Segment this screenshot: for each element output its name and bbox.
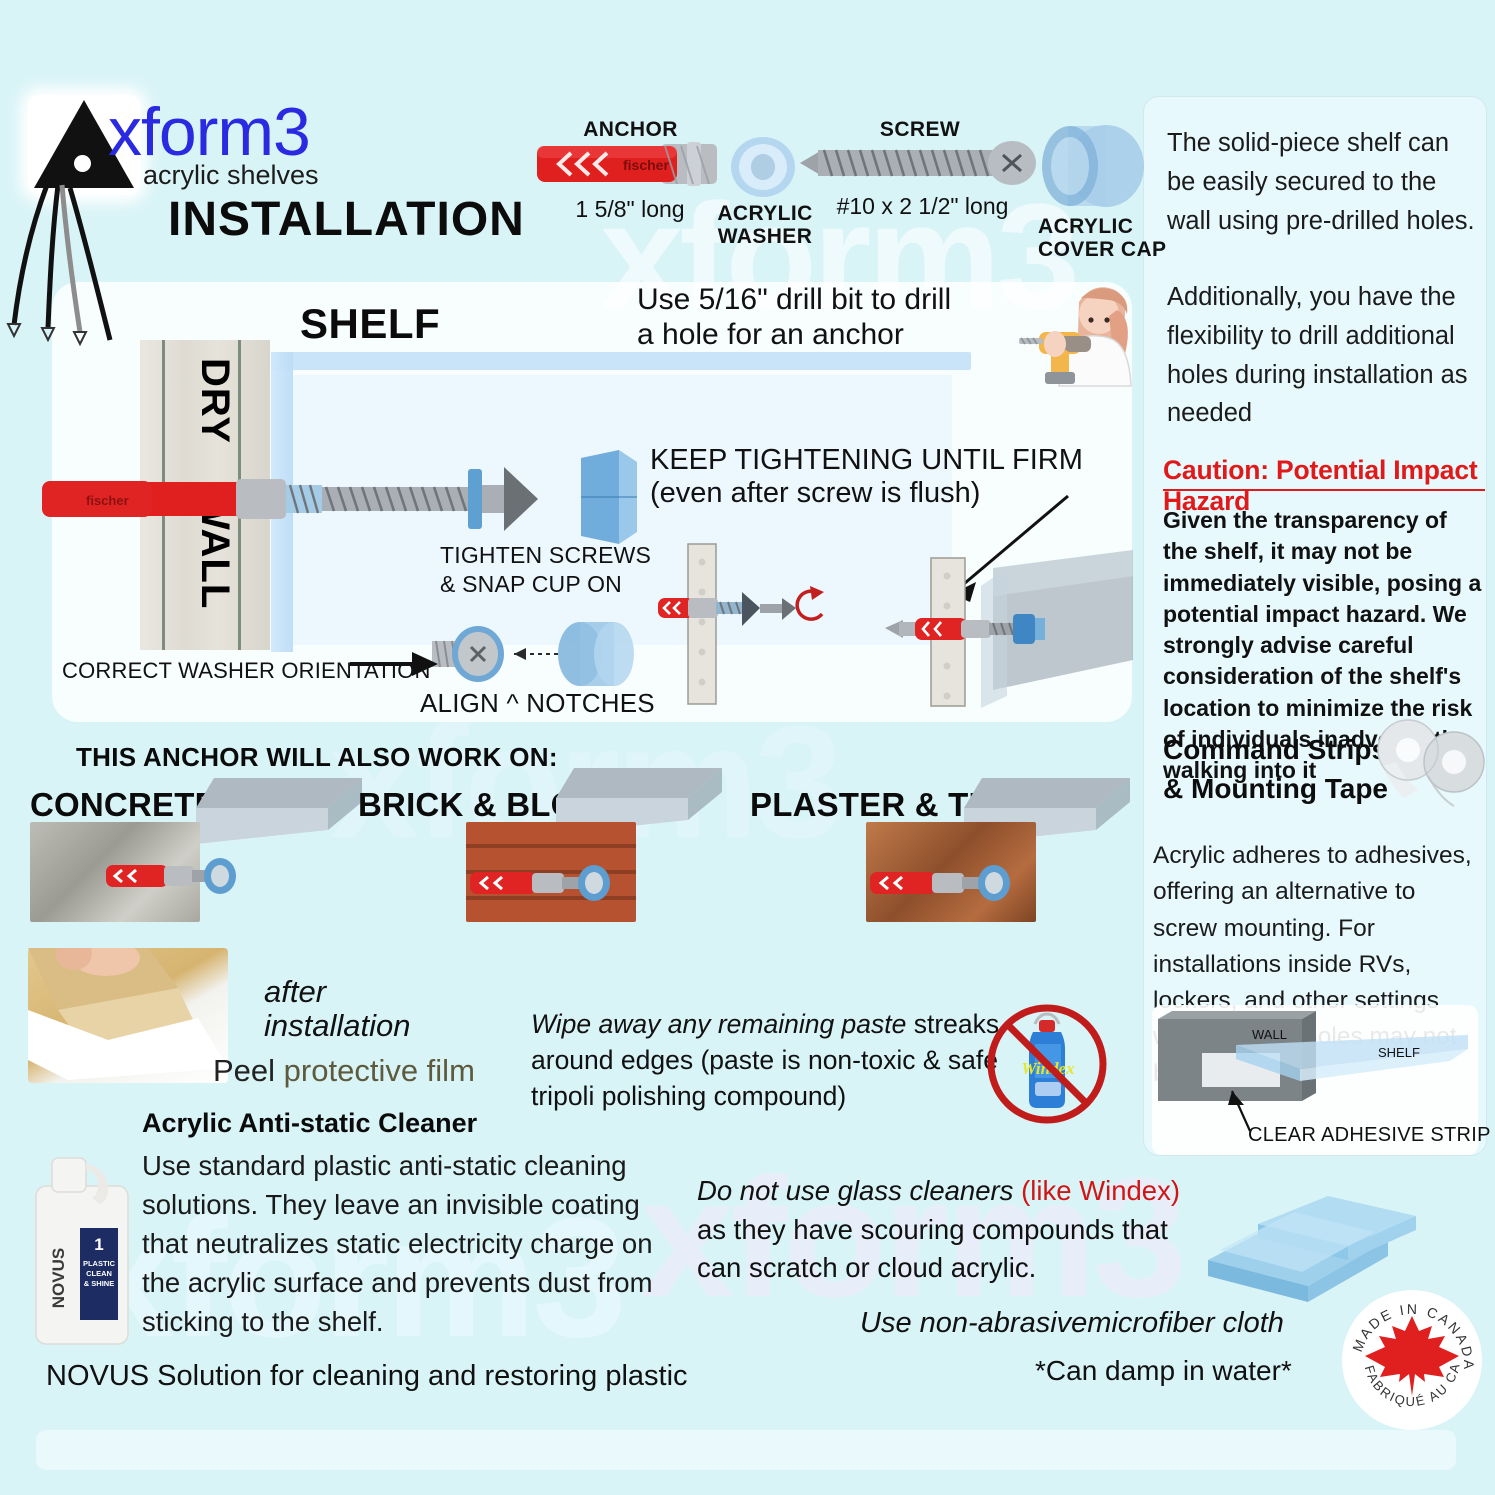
align-notches-label: ALIGN ^ NOTCHES: [420, 688, 655, 719]
svg-text:NOVUS: NOVUS: [49, 1248, 68, 1308]
wall-label-dry: DRY: [192, 358, 237, 444]
drill-line-1: Use 5/16" drill bit to drill: [637, 283, 951, 316]
logo-dot-icon: [74, 155, 91, 172]
command-heading-line2: & Mounting Tape: [1163, 773, 1388, 804]
glass-rest: as they have scouring compounds that can…: [697, 1214, 1168, 1284]
peel-accent: protective film: [284, 1053, 475, 1088]
wipe-italic: Wipe away any remaining paste: [531, 1009, 906, 1039]
person-with-drill-icon: [995, 280, 1135, 390]
svg-text:fischer: fischer: [623, 157, 669, 173]
after-line-2: installation: [264, 1008, 410, 1043]
cleaner-body: Use standard plastic anti-static cleanin…: [142, 1146, 687, 1341]
anchor-in-brick-icon: [470, 852, 620, 912]
peel-protective-film-label: Peel protective film: [213, 1053, 475, 1089]
after-line-1: after: [264, 974, 326, 1009]
bottom-strip: [36, 1430, 1456, 1470]
novus-bottle-icon: 1 PLASTIC CLEAN & SHINE NOVUS: [30, 1150, 134, 1350]
svg-text:CLEAN: CLEAN: [86, 1269, 112, 1278]
shelf-label-text: SHELF: [1378, 1045, 1420, 1060]
washer-label-line2: WASHER: [718, 225, 813, 248]
installation-poster: xform3 xform3 xform3 xform3 xform3 acryl…: [0, 0, 1495, 1495]
glass-red: (like Windex): [1013, 1175, 1180, 1206]
washer-orientation-arrow-icon: [350, 648, 440, 678]
right-paragraph-2: Additionally, you have the flexibility t…: [1167, 278, 1477, 433]
wall-label-text: WALL: [1252, 1027, 1287, 1042]
cover-cap-icon: [1038, 122, 1146, 210]
made-in-canada-badge: MADE IN CANADA FABRIQUÉ AU CANADA: [1340, 1288, 1485, 1433]
command-strips-heading: Command Strips & Mounting Tape: [1163, 730, 1403, 808]
rotate-screw-diagram-icon: [658, 540, 858, 710]
brand-tagline: acrylic shelves: [143, 160, 319, 191]
washer-icon: [730, 136, 796, 198]
hardware-label-screw: SCREW: [820, 118, 1020, 141]
novus-footer: NOVUS Solution for cleaning and restorin…: [46, 1360, 688, 1393]
svg-text:& SHINE: & SHINE: [84, 1279, 114, 1288]
washer-cap-snap-icon: [430, 615, 640, 695]
peel-prefix: Peel: [213, 1053, 284, 1088]
shelf-label: SHELF: [300, 300, 440, 348]
shelf-corner-install-icon: [885, 540, 1135, 715]
drill-line-2: a hole for an anchor: [637, 318, 904, 351]
peel-film-overlay-icon: [28, 948, 228, 1083]
anchor-in-concrete-icon: [106, 845, 246, 905]
material-label-concrete: CONCRETE: [30, 786, 217, 824]
keep-line-1: KEEP TIGHTENING UNTIL FIRM: [650, 444, 1083, 476]
tighten-line-2: & SNAP CUP ON: [440, 571, 622, 597]
after-installation-label: after installation: [264, 975, 410, 1043]
wipe-instruction: Wipe away any remaining paste streaks ar…: [531, 1006, 1001, 1114]
svg-text:fischer: fischer: [86, 493, 129, 508]
screw-spec: #10 x 2 1/2" long: [795, 193, 1050, 220]
shelf-top-bar: [271, 352, 971, 370]
tighten-screws-instruction: TIGHTEN SCREWS & SNAP CUP ON: [440, 541, 651, 599]
cap-label-line2: COVER CAP: [1038, 238, 1166, 261]
anchor-icon: fischer: [537, 140, 727, 188]
anchor-in-plaster-icon: [870, 852, 1020, 912]
right-paragraph-1: The solid-piece shelf can be easily secu…: [1167, 124, 1477, 240]
caution-underline: [1163, 489, 1485, 491]
anchor-screw-assembly-icon: fischer: [40, 455, 600, 545]
bottle-number-text: 1: [94, 1235, 103, 1254]
cleaner-heading: Acrylic Anti-static Cleaner: [142, 1108, 477, 1139]
anchor-spec: 1 5/8" long: [540, 196, 720, 223]
clear-adhesive-strip-label: CLEAR ADHESIVE STRIP: [1248, 1124, 1491, 1147]
mounting-tape-rolls-icon: [1370, 716, 1490, 808]
damp-note: *Can damp in water*: [1035, 1355, 1292, 1387]
page-title: INSTALLATION: [168, 192, 525, 247]
cap-label-line1: ACRYLIC: [1038, 215, 1133, 238]
screw-icon: [800, 140, 1045, 186]
brand-name: xform3: [108, 98, 310, 166]
glass-cleaner-warning: Do not use glass cleaners (like Windex) …: [697, 1172, 1197, 1288]
glass-italic: Do not use glass cleaners: [697, 1175, 1013, 1206]
command-heading-line1: Command Strips: [1163, 734, 1387, 765]
no-windex-prohibition-icon: Windex: [983, 1000, 1111, 1128]
svg-text:PLASTIC: PLASTIC: [83, 1259, 116, 1268]
materials-heading: THIS ANCHOR WILL ALSO WORK ON:: [76, 742, 558, 773]
drill-instruction: Use 5/16" drill bit to drill a hole for …: [637, 283, 951, 353]
tighten-line-1: TIGHTEN SCREWS: [440, 542, 651, 568]
hardware-label-anchor: ANCHOR: [543, 118, 718, 141]
cover-cap-3d-icon: [575, 448, 645, 548]
